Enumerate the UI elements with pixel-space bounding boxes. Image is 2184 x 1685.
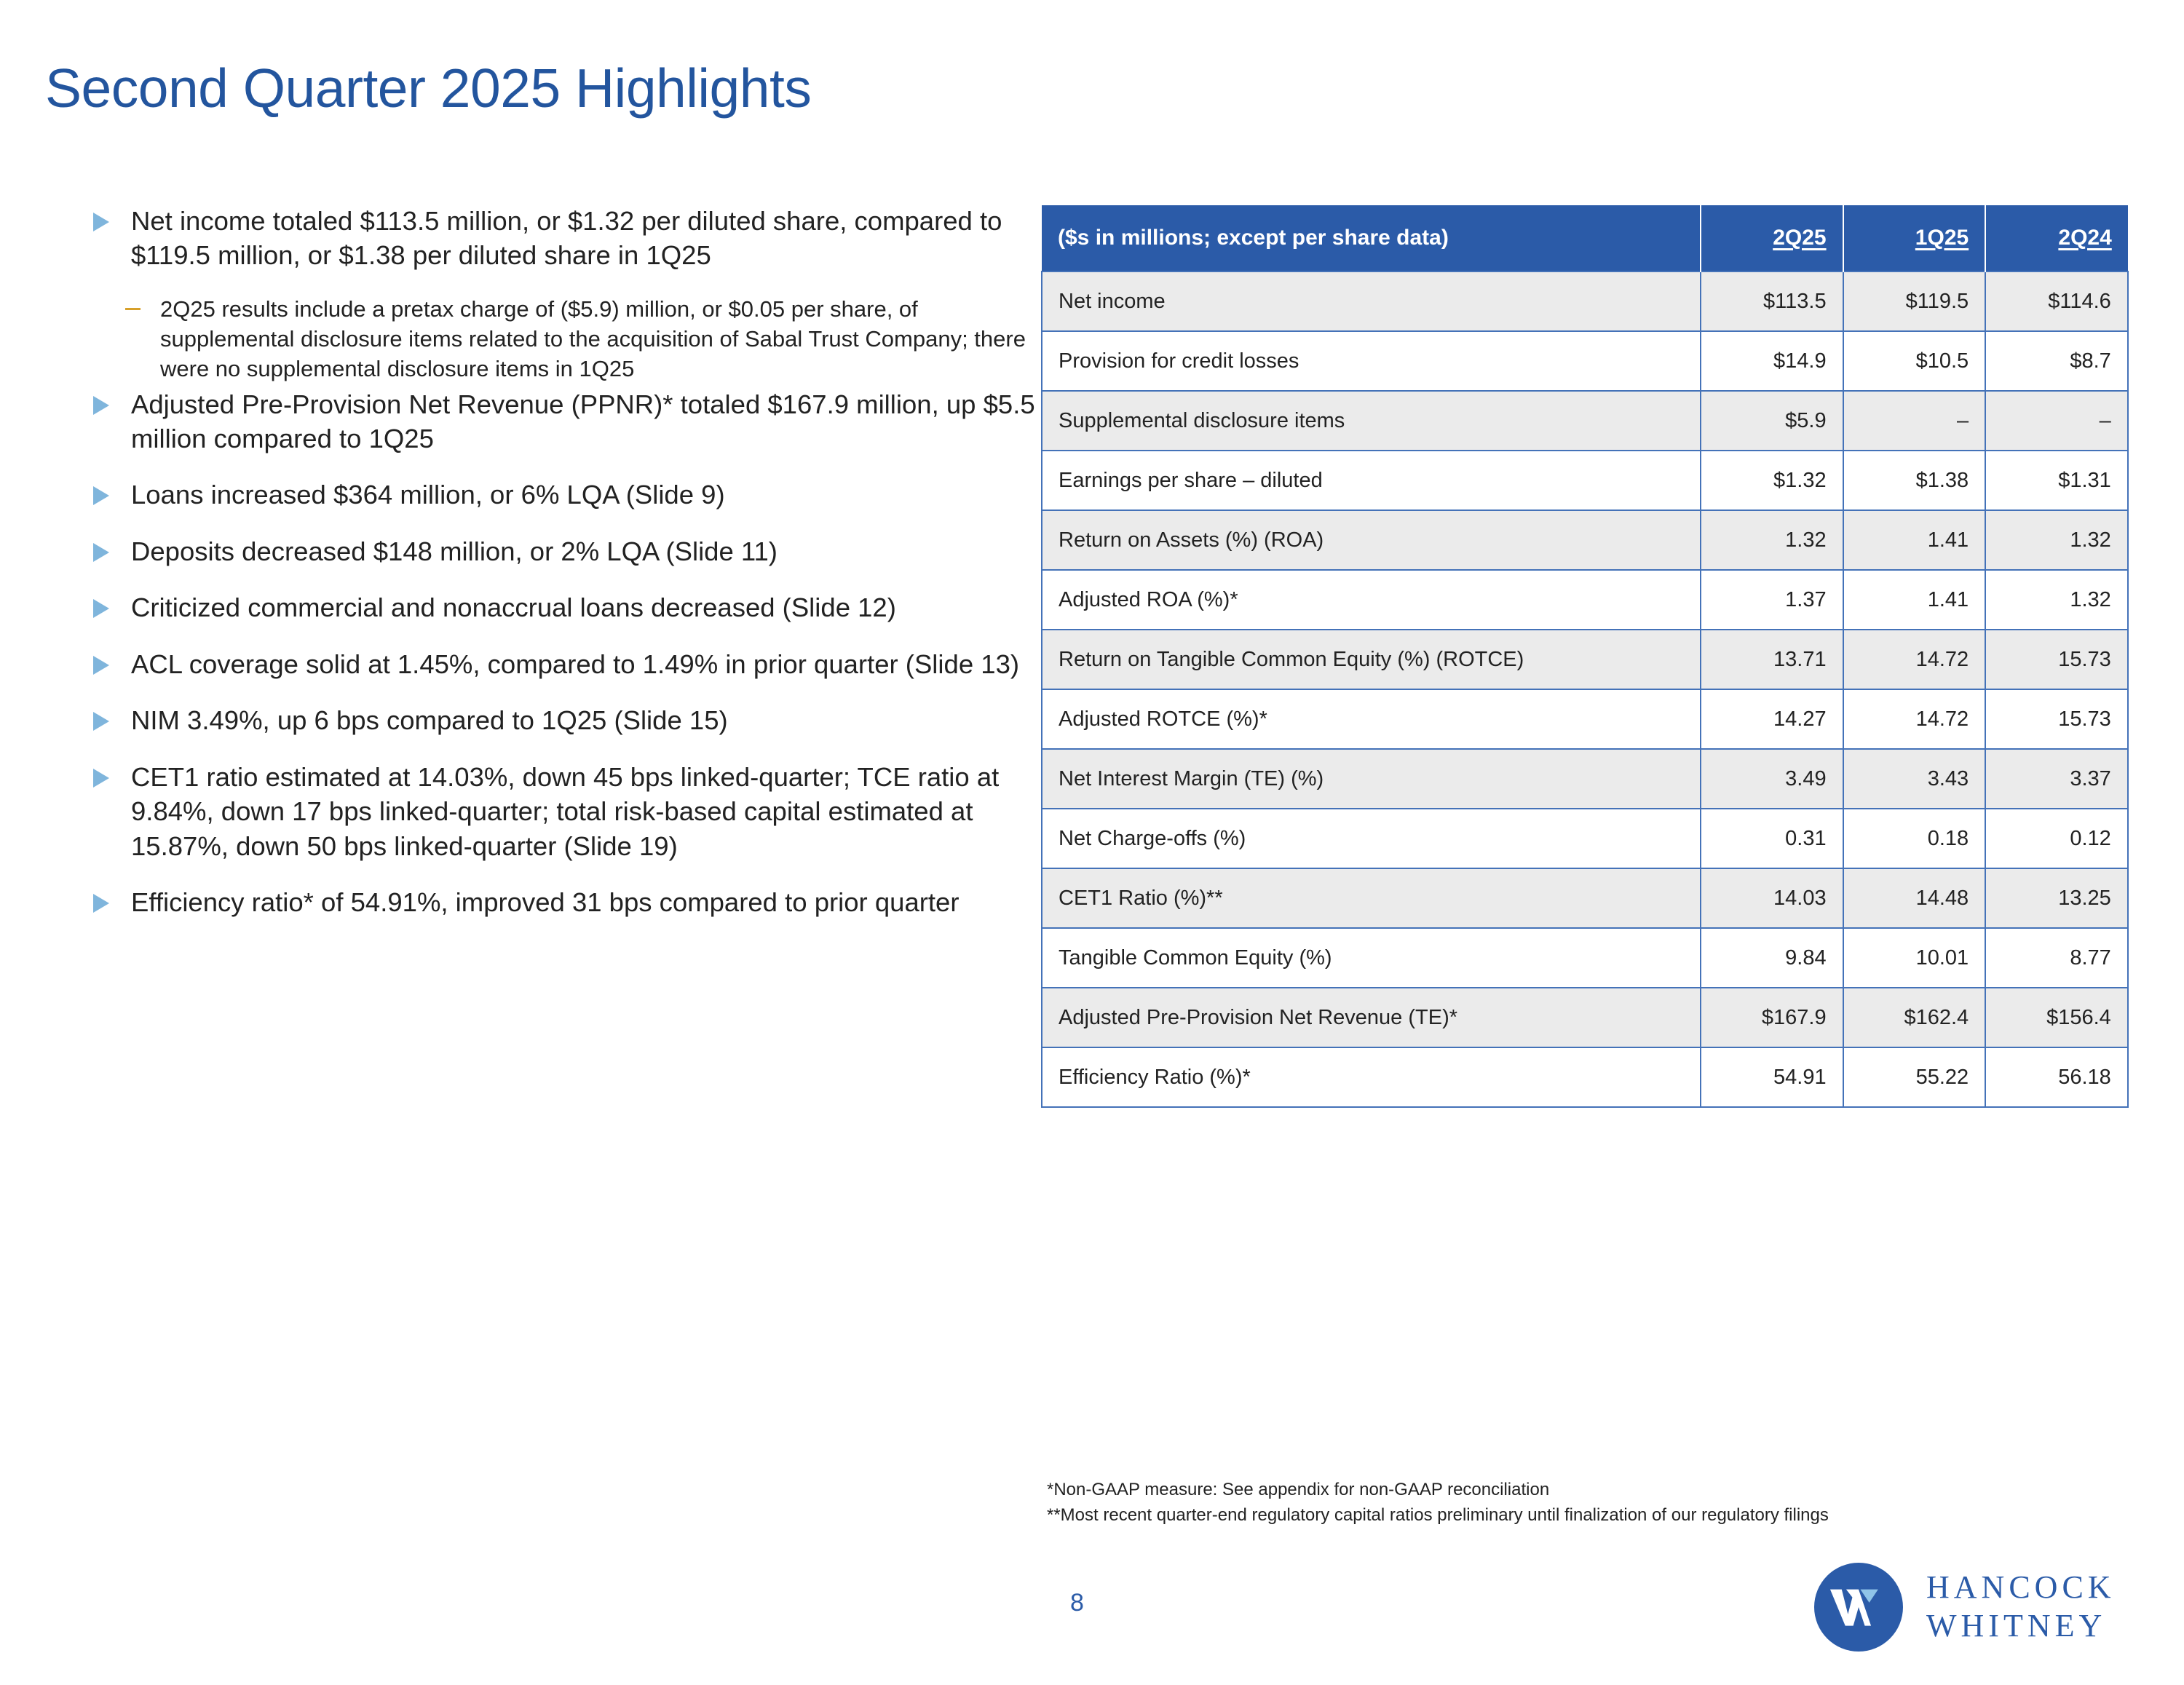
bullet-text: Net income totaled $113.5 million, or $1… (131, 206, 1002, 270)
metric-label-cell: Efficiency Ratio (%)* (1042, 1047, 1701, 1107)
metric-value-cell: 55.22 (1843, 1047, 1986, 1107)
bullet-text: Adjusted Pre-Provision Net Revenue (PPNR… (131, 389, 1035, 453)
dash-bullet-icon (125, 308, 141, 310)
triangle-bullet-icon (93, 769, 109, 788)
metric-value-cell: 15.73 (1985, 630, 2128, 689)
metric-value-cell: 14.72 (1843, 689, 1986, 749)
metric-value-cell: 1.41 (1843, 510, 1986, 570)
table-row: Efficiency Ratio (%)*54.9155.2256.18 (1042, 1047, 2128, 1107)
table-row: Adjusted ROA (%)*1.371.411.32 (1042, 570, 2128, 630)
table-row: Net Interest Margin (TE) (%)3.493.433.37 (1042, 749, 2128, 809)
column-header-2q25: 2Q25 (1701, 205, 1843, 271)
bullet-text: Criticized commercial and nonaccrual loa… (131, 592, 896, 622)
column-header-1q25-label: 1Q25 (1915, 226, 1969, 250)
metric-value-cell: $10.5 (1843, 331, 1986, 391)
footnote-line: *Non-GAAP measure: See appendix for non-… (1047, 1478, 1829, 1503)
bullet-item: ACL coverage solid at 1.45%, compared to… (80, 647, 1041, 681)
metric-label-cell: Net Interest Margin (TE) (%) (1042, 749, 1701, 809)
metric-value-cell: $113.5 (1701, 271, 1843, 331)
table-row: Adjusted ROTCE (%)*14.2714.7215.73 (1042, 689, 2128, 749)
bullet-item: Deposits decreased $148 million, or 2% L… (80, 534, 1041, 568)
table-row: Net income$113.5$119.5$114.6 (1042, 271, 2128, 331)
table-row: Supplemental disclosure items$5.9–– (1042, 391, 2128, 451)
bullet-text: Loans increased $364 million, or 6% LQA … (131, 480, 725, 510)
bullet-text: CET1 ratio estimated at 14.03%, down 45 … (131, 762, 999, 861)
page-number: 8 (1070, 1589, 1084, 1617)
footnote-line: **Most recent quarter-end regulatory cap… (1047, 1503, 1829, 1529)
metric-value-cell: 14.03 (1701, 868, 1843, 928)
metric-value-cell: $5.9 (1701, 391, 1843, 451)
metric-label-cell: Return on Assets (%) (ROA) (1042, 510, 1701, 570)
metric-value-cell: $8.7 (1985, 331, 2128, 391)
table-row: Return on Assets (%) (ROA)1.321.411.32 (1042, 510, 2128, 570)
metric-value-cell: 3.49 (1701, 749, 1843, 809)
metric-value-cell: 1.32 (1701, 510, 1843, 570)
triangle-bullet-icon (93, 213, 109, 231)
metric-label-cell: Earnings per share – diluted (1042, 451, 1701, 510)
triangle-bullet-icon (93, 543, 109, 562)
metric-value-cell: 0.12 (1985, 809, 2128, 868)
metric-value-cell: 14.48 (1843, 868, 1986, 928)
metric-label-cell: Adjusted ROTCE (%)* (1042, 689, 1701, 749)
column-header-2q24-label: 2Q24 (2058, 226, 2111, 250)
metric-value-cell: 0.31 (1701, 809, 1843, 868)
triangle-bullet-icon (93, 656, 109, 675)
metric-value-cell: $167.9 (1701, 988, 1843, 1047)
table-row: CET1 Ratio (%)**14.0314.4813.25 (1042, 868, 2128, 928)
metric-value-cell: $1.32 (1701, 451, 1843, 510)
table-row: Adjusted Pre-Provision Net Revenue (TE)*… (1042, 988, 2128, 1047)
sub-bullet-text: 2Q25 results include a pretax charge of … (160, 296, 1026, 381)
bullet-item: Criticized commercial and nonaccrual loa… (80, 590, 1041, 625)
metric-label-cell: Net Charge-offs (%) (1042, 809, 1701, 868)
table-row: Earnings per share – diluted$1.32$1.38$1… (1042, 451, 2128, 510)
page-title: Second Quarter 2025 Highlights (45, 57, 811, 119)
table-footnotes: *Non-GAAP measure: See appendix for non-… (1047, 1478, 1829, 1529)
column-header-1q25: 1Q25 (1843, 205, 1986, 271)
triangle-bullet-icon (93, 396, 109, 415)
metric-value-cell: 54.91 (1701, 1047, 1843, 1107)
metric-value-cell: 13.25 (1985, 868, 2128, 928)
triangle-bullet-icon (93, 894, 109, 913)
column-header-2q24: 2Q24 (1985, 205, 2128, 271)
column-header-metric: ($s in millions; except per share data) (1042, 205, 1701, 271)
bullet-text: Efficiency ratio* of 54.91%, improved 31… (131, 887, 960, 917)
hancock-whitney-logo: HANCOCK WHITNEY (1814, 1556, 2134, 1658)
bullet-item: Loans increased $364 million, or 6% LQA … (80, 477, 1041, 512)
metric-value-cell: 15.73 (1985, 689, 2128, 749)
triangle-bullet-icon (93, 712, 109, 731)
highlights-bullet-list: Net income totaled $113.5 million, or $1… (80, 204, 1041, 941)
column-header-2q25-label: 2Q25 (1773, 226, 1826, 250)
metric-value-cell: 9.84 (1701, 928, 1843, 988)
metric-value-cell: 1.32 (1985, 510, 2128, 570)
bullet-text: ACL coverage solid at 1.45%, compared to… (131, 649, 1019, 679)
metric-label-cell: Tangible Common Equity (%) (1042, 928, 1701, 988)
sub-bullet-item: 2Q25 results include a pretax charge of … (115, 295, 1041, 384)
table-row: Return on Tangible Common Equity (%) (RO… (1042, 630, 2128, 689)
metric-label-cell: Net income (1042, 271, 1701, 331)
metric-value-cell: 14.27 (1701, 689, 1843, 749)
bullet-item: CET1 ratio estimated at 14.03%, down 45 … (80, 760, 1041, 863)
metric-value-cell: 13.71 (1701, 630, 1843, 689)
metric-label-cell: CET1 Ratio (%)** (1042, 868, 1701, 928)
metric-value-cell: $119.5 (1843, 271, 1986, 331)
metric-value-cell: 1.41 (1843, 570, 1986, 630)
metric-value-cell: 1.37 (1701, 570, 1843, 630)
metric-value-cell: 56.18 (1985, 1047, 2128, 1107)
metric-label-cell: Return on Tangible Common Equity (%) (RO… (1042, 630, 1701, 689)
bullet-text: Deposits decreased $148 million, or 2% L… (131, 536, 778, 566)
metric-value-cell: 10.01 (1843, 928, 1986, 988)
bullet-item: NIM 3.49%, up 6 bps compared to 1Q25 (Sl… (80, 703, 1041, 737)
bullet-item: Net income totaled $113.5 million, or $1… (80, 204, 1041, 273)
triangle-bullet-icon (93, 486, 109, 505)
metric-value-cell: – (1843, 391, 1986, 451)
table-row: Net Charge-offs (%)0.310.180.12 (1042, 809, 2128, 868)
metric-value-cell: $156.4 (1985, 988, 2128, 1047)
logo-line-hancock: HANCOCK (1926, 1569, 2116, 1607)
table-header-row: ($s in millions; except per share data) … (1042, 205, 2128, 271)
metric-value-cell: 14.72 (1843, 630, 1986, 689)
key-metrics-table: ($s in millions; except per share data) … (1041, 205, 2129, 1108)
hancock-whitney-wordmark: HANCOCK WHITNEY (1926, 1569, 2116, 1646)
bullet-item: Efficiency ratio* of 54.91%, improved 31… (80, 885, 1041, 919)
metric-value-cell: 3.37 (1985, 749, 2128, 809)
metric-label-cell: Adjusted ROA (%)* (1042, 570, 1701, 630)
metric-value-cell: $162.4 (1843, 988, 1986, 1047)
table-body: Net income$113.5$119.5$114.6Provision fo… (1042, 271, 2128, 1107)
metric-value-cell: 8.77 (1985, 928, 2128, 988)
metric-label-cell: Provision for credit losses (1042, 331, 1701, 391)
metric-value-cell: $1.38 (1843, 451, 1986, 510)
metric-value-cell: $1.31 (1985, 451, 2128, 510)
metric-label-cell: Adjusted Pre-Provision Net Revenue (TE)* (1042, 988, 1701, 1047)
metric-value-cell: $14.9 (1701, 331, 1843, 391)
table-row: Provision for credit losses$14.9$10.5$8.… (1042, 331, 2128, 391)
hancock-whitney-circle-icon (1814, 1563, 1903, 1652)
metric-value-cell: 0.18 (1843, 809, 1986, 868)
logo-line-whitney: WHITNEY (1926, 1607, 2116, 1646)
bullet-item: Adjusted Pre-Provision Net Revenue (PPNR… (80, 387, 1041, 456)
triangle-bullet-icon (93, 599, 109, 618)
metric-value-cell: 1.32 (1985, 570, 2128, 630)
metric-value-cell: $114.6 (1985, 271, 2128, 331)
metric-value-cell: 3.43 (1843, 749, 1986, 809)
table-row: Tangible Common Equity (%)9.8410.018.77 (1042, 928, 2128, 988)
metric-label-cell: Supplemental disclosure items (1042, 391, 1701, 451)
bullet-text: NIM 3.49%, up 6 bps compared to 1Q25 (Sl… (131, 705, 728, 735)
metric-value-cell: – (1985, 391, 2128, 451)
